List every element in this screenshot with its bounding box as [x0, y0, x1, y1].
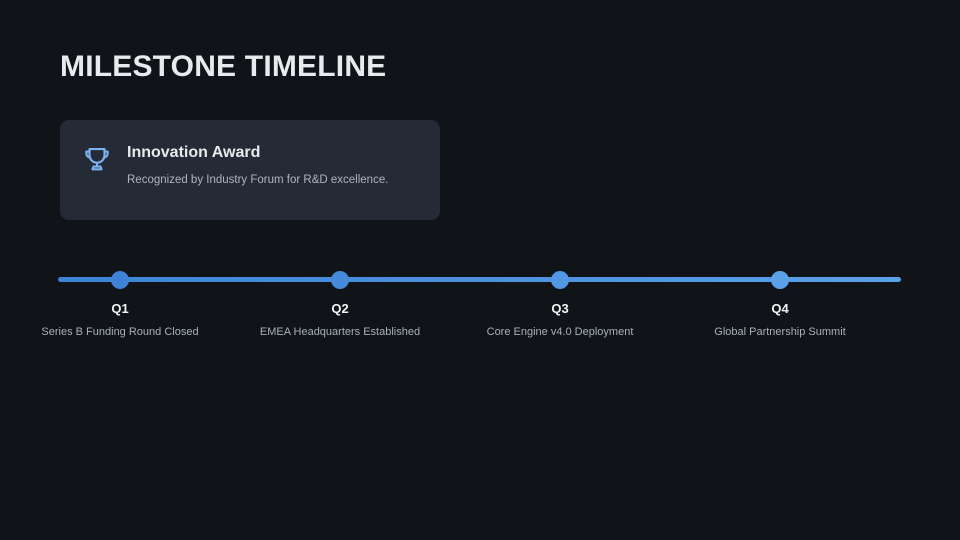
timeline-node-q3[interactable]: Q3 Core Engine v4.0 Deployment	[460, 300, 660, 339]
timeline-dot-q3[interactable]	[551, 271, 569, 289]
timeline-dot-q1[interactable]	[111, 271, 129, 289]
timeline-node-q2[interactable]: Q2 EMEA Headquarters Established	[240, 300, 440, 339]
timeline-milestone-label: Global Partnership Summit	[680, 325, 880, 339]
timeline-quarter-label: Q3	[460, 300, 660, 317]
slide-canvas: MILESTONE TIMELINE Innovation Award Reco…	[0, 0, 960, 540]
timeline-node-q1[interactable]: Q1 Series B Funding Round Closed	[20, 300, 220, 339]
timeline-milestone-label: Core Engine v4.0 Deployment	[460, 325, 660, 339]
timeline-node-q4[interactable]: Q4 Global Partnership Summit	[680, 300, 880, 339]
timeline-dot-q4[interactable]	[771, 271, 789, 289]
timeline-quarter-label: Q1	[20, 300, 220, 317]
timeline-milestone-label: Series B Funding Round Closed	[20, 325, 220, 339]
milestone-timeline: Q1 Series B Funding Round Closed Q2 EMEA…	[0, 0, 960, 540]
timeline-quarter-label: Q4	[680, 300, 880, 317]
timeline-quarter-label: Q2	[240, 300, 440, 317]
timeline-dot-q2[interactable]	[331, 271, 349, 289]
timeline-milestone-label: EMEA Headquarters Established	[240, 325, 440, 339]
